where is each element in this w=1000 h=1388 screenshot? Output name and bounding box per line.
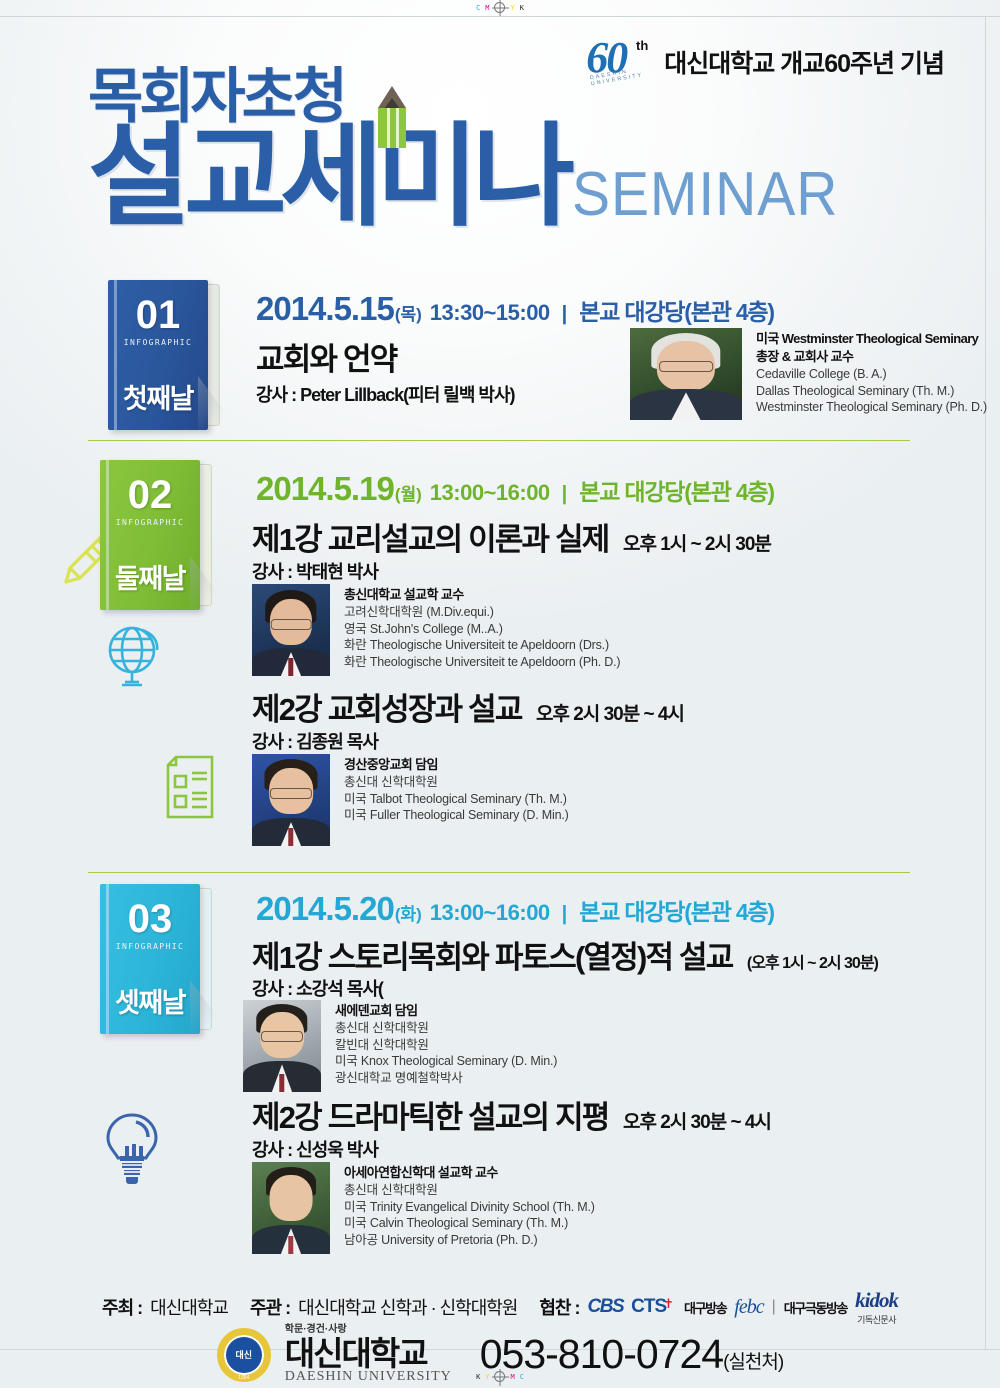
day3-date: 2014.5.20 (256, 890, 394, 928)
day3-lecture-2-title-row: 제2강 드라마틱한 설교의 지평 오후 2시 30분 ~ 4시 (252, 1092, 771, 1137)
day2-lecture-2-title-row: 제2강 교회성장과 설교 오후 2시 30분 ~ 4시 (252, 684, 684, 729)
day3-lecture-2-speaker: 강사 : 신성욱 박사 (252, 1136, 378, 1162)
day-number-1: 01 (108, 294, 208, 336)
bio-line: 미국 Calvin Theological Seminary (Th. M.) (344, 1215, 595, 1232)
globe-icon (104, 624, 166, 690)
title-english: SEMINAR (572, 162, 838, 228)
day-book-1: 01 INFOGRAPHIC 첫째날 (108, 280, 220, 430)
day1-lecture-1-speaker: 강사 : Peter Lillback(피터 릴백 박사) (256, 381, 515, 407)
sponsor-divider: | (772, 1298, 776, 1316)
day2-time: 13:00~16:00 (430, 480, 550, 506)
poster-title: 목회자초청 설교세미나 SEMINAR (88, 66, 862, 232)
sponsor-sub-cts: 대구방송 (684, 1298, 726, 1317)
bio-line: 미국 Trinity Evangelical Divinity School (… (344, 1199, 595, 1216)
day2-separator: | (562, 483, 568, 506)
speaker-photo-so-gangseok (243, 1000, 321, 1092)
day-number-2: 02 (100, 474, 200, 516)
bio-line: 미국 Knox Theological Seminary (D. Min.) (335, 1053, 557, 1070)
host-label: 주최 : (102, 1294, 142, 1320)
organizer-label: 주관 : (250, 1294, 290, 1320)
day2-lecture-1-title-row: 제1강 교리설교의 이론과 실제 오후 1시 ~ 2시 30분 (252, 514, 771, 559)
anniversary-th: th (636, 38, 648, 53)
day3-lecture-1-bio: 새에덴교회 담임 총신대 신학대학원 칼빈대 신학대학원 미국 Knox The… (243, 1000, 557, 1092)
sponsor-label: 협찬 : (539, 1294, 579, 1320)
bio-line: 남아공 University of Pretoria (Ph. D.) (344, 1232, 595, 1249)
day3-separator: | (562, 903, 568, 926)
day-infographic-label-1: INFOGRAPHIC (108, 338, 208, 347)
trim-line-right (985, 16, 986, 1350)
day-label-3: 셋째날 (100, 981, 200, 1020)
day3-lecture-2-bio: 아세아연합신학대 설교학 교수 총신대 신학대학원 미국 Trinity Eva… (252, 1162, 595, 1254)
day2-date: 2014.5.19 (256, 470, 394, 508)
sponsor-sub-febc: 대구극동방송 (784, 1298, 847, 1317)
day2-lecture-1-time: 오후 1시 ~ 2시 30분 (623, 534, 771, 555)
day1-date: 2014.5.15 (256, 290, 394, 328)
host-value: 대신대학교 (150, 1294, 228, 1320)
day-infographic-label-2: INFOGRAPHIC (100, 518, 200, 527)
reg-mark-k: K (520, 4, 524, 12)
day1-lecture-1-title: 교회와 언약 (256, 334, 396, 379)
bio-line: 화란 Theologische Universiteit te Apeldoor… (344, 637, 620, 654)
bio-line: 영국 St.John's College (M..A.) (344, 621, 620, 638)
day2-lecture-2-time: 오후 2시 30분 ~ 4시 (536, 704, 684, 725)
sponsor-row: 주최 : 대신대학교 주관 : 대신대학교 신학과 · 신학대학원 협찬 : C… (0, 1288, 1000, 1326)
bio-strong: 새에덴교회 담임 (335, 1002, 557, 1020)
day3-lecture-2-time: 오후 2시 30분 ~ 4시 (623, 1112, 771, 1133)
day-label-1: 첫째날 (108, 377, 208, 416)
bio-line: 광신대학교 명예철학박사 (335, 1070, 557, 1087)
registration-mark-bar: C M Y K (0, 0, 1000, 16)
day2-lecture-1-speaker: 강사 : 박태현 박사 (252, 558, 378, 584)
day2-dateline: 2014.5.19 (월) 13:00~16:00 | 본교 대강당(본관 4층… (256, 470, 774, 508)
day1-lecture-1-bio: 미국 Westminster Theological Seminary 총장 &… (630, 328, 987, 420)
day2-lecture-1-title: 제1강 교리설교의 이론과 실제 (252, 514, 609, 559)
day1-separator: | (562, 303, 568, 326)
bio-line: 미국 Fuller Theological Seminary (D. Min.) (344, 807, 569, 824)
university-footer: 대신 1954 학문·경건·사랑 대신대학교 DAESHIN UNIVERSIT… (0, 1325, 1000, 1384)
day3-dayofweek: (화) (395, 900, 422, 925)
bio-line: 칼빈대 신학대학원 (335, 1037, 557, 1054)
day2-dayofweek: (월) (395, 480, 422, 505)
bio-line: 총신대 신학대학원 (344, 774, 569, 791)
day3-lecture-1-title-row: 제1강 스토리목회와 파토스(열정)적 설교 (오후 1시 ~ 2시 30분) (252, 932, 878, 977)
sponsor-logo-cts: CTS✝ (631, 1296, 676, 1318)
speaker-photo-shin-seonguk (252, 1162, 330, 1254)
day3-lecture-1-time: (오후 1시 ~ 2시 30분) (747, 955, 878, 972)
bio-line: 미국 Talbot Theological Seminary (Th. M.) (344, 791, 569, 808)
poster-canvas: C M Y K K Y M C 60 th DAESHIN UNIVERSITY… (0, 0, 1000, 1388)
day1-lecture-1-title-row: 교회와 언약 (256, 334, 396, 379)
organizer-value: 대신대학교 신학과 · 신학대학원 (298, 1294, 517, 1320)
trim-line-top (0, 16, 1000, 17)
seal-text: 대신 (226, 1337, 262, 1373)
day-book-2: 02 INFOGRAPHIC 둘째날 (100, 460, 212, 610)
contact-phone-note: (실천처) (723, 1347, 783, 1374)
bio-line: 고려신학대학원 (M.Div.equi.) (344, 604, 620, 621)
bio-strong: 총장 & 교회사 교수 (756, 348, 987, 366)
day-label-2: 둘째날 (100, 557, 200, 596)
bio-strong: 총신대학교 설교학 교수 (344, 586, 620, 604)
day3-time: 13:00~16:00 (430, 900, 550, 926)
title-main: 설교세미나 (88, 122, 568, 232)
day-number-3: 03 (100, 898, 200, 940)
bio-strong: 미국 Westminster Theological Seminary (756, 330, 987, 348)
speaker-photo-park-taehyun (252, 584, 330, 676)
university-name-block: 학문·경건·사랑 대신대학교 DAESHIN UNIVERSITY (285, 1325, 452, 1384)
checklist-icon (162, 754, 218, 820)
day2-lecture-1-bio: 총신대학교 설교학 교수 고려신학대학원 (M.Div.equi.) 영국 St… (252, 584, 620, 676)
bio-strong: 경산중앙교회 담임 (344, 756, 569, 774)
day2-lecture-2-title: 제2강 교회성장과 설교 (252, 684, 522, 729)
bio-line: 화란 Theologische Universiteit te Apeldoor… (344, 654, 620, 671)
sponsor-logo-cbs: CBS (588, 1296, 624, 1318)
day1-place: 본교 대강당(본관 4층) (579, 293, 774, 327)
day3-lecture-2-title: 제2강 드라마틱한 설교의 지평 (252, 1092, 609, 1137)
sponsor-logo-kidok: kidok 기독신문사 (855, 1288, 898, 1326)
day1-dateline: 2014.5.15 (목) 13:30~15:00 | 본교 대강당(본관 4층… (256, 290, 774, 328)
day1-time: 13:30~15:00 (430, 300, 550, 326)
registration-target-icon (495, 2, 506, 13)
reg-mark-m: M (485, 4, 489, 12)
day3-lecture-1-title: 제1강 스토리목회와 파토스(열정)적 설교 (252, 932, 732, 977)
registration-marks: C M Y K (476, 2, 524, 13)
bio-line: Westminster Theological Seminary (Ph. D.… (756, 399, 987, 416)
reg-mark-c: C (476, 4, 480, 12)
university-motto: 학문·경건·사랑 (285, 1325, 452, 1335)
day2-divider (88, 872, 910, 873)
day2-place: 본교 대강당(본관 4층) (579, 473, 774, 507)
day1-dayofweek: (목) (395, 300, 422, 325)
bio-strong: 아세아연합신학대 설교학 교수 (344, 1164, 595, 1182)
university-seal-icon: 대신 1954 (217, 1328, 271, 1382)
lightbulb-icon (100, 1110, 164, 1184)
university-name-kr: 대신대학교 (285, 1337, 452, 1370)
reg-mark-y: Y (511, 4, 515, 12)
speaker-photo-kim-jongwon (252, 754, 330, 846)
bio-line: Cedaville College (B. A.) (756, 366, 987, 383)
speaker-photo-peter-lillback (630, 328, 742, 420)
sponsor-logo-febc: febc (734, 1296, 763, 1319)
day-infographic-label-3: INFOGRAPHIC (100, 942, 200, 951)
pencil-icon (372, 86, 412, 148)
bio-line: 총신대 신학대학원 (335, 1020, 557, 1037)
day1-divider (88, 440, 910, 441)
contact-phone: 053-810-0724 (480, 1331, 723, 1378)
day3-dateline: 2014.5.20 (화) 13:00~16:00 | 본교 대강당(본관 4층… (256, 890, 774, 928)
bio-line: Dallas Theological Seminary (Th. M.) (756, 383, 987, 400)
day-book-3: 03 INFOGRAPHIC 셋째날 (100, 884, 212, 1034)
day2-lecture-2-bio: 경산중앙교회 담임 총신대 신학대학원 미국 Talbot Theologica… (252, 754, 569, 846)
seal-year: 1954 (217, 1375, 271, 1381)
university-name-en: DAESHIN UNIVERSITY (285, 1370, 452, 1384)
day2-lecture-2-speaker: 강사 : 김종원 목사 (252, 728, 378, 754)
day3-lecture-1-speaker: 강사 : 소강석 목사( (252, 975, 383, 1001)
day3-place: 본교 대강당(본관 4층) (579, 893, 774, 927)
bio-line: 총신대 신학대학원 (344, 1182, 595, 1199)
